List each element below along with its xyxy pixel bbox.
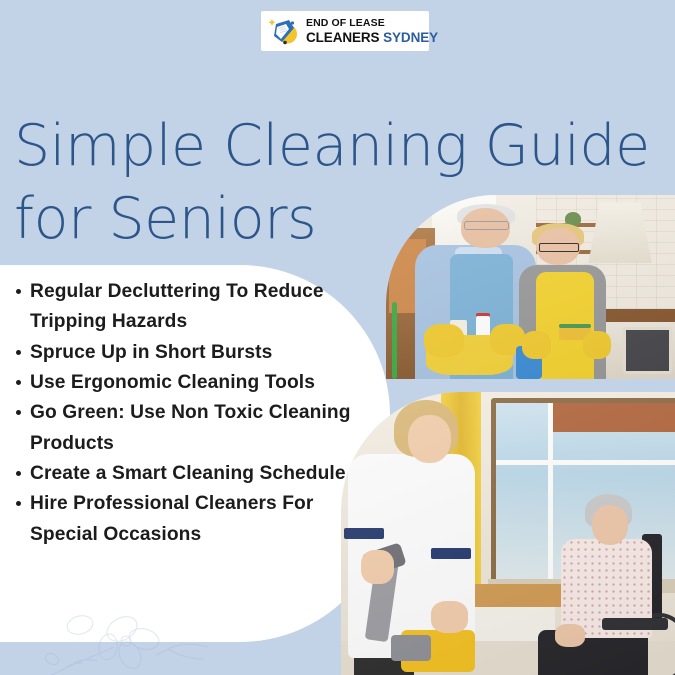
brand-logo[interactable]: END OF LEASE CLEANERS SYDNEY [261,11,429,51]
list-item: Go Green: Use Non Toxic Cleaning Product… [30,398,362,459]
photo-carer-vacuuming-for-senior [341,392,675,675]
brand-logo-line-2: CLEANERS SYDNEY [306,31,438,45]
brand-logo-line-1: END OF LEASE [306,18,438,29]
list-item: Use Ergonomic Cleaning Tools [30,368,362,398]
brand-logo-text: END OF LEASE CLEANERS SYDNEY [306,18,438,44]
brand-logo-sydney: SYDNEY [383,30,438,45]
tips-list: Regular Decluttering To Reduce Tripping … [8,277,362,550]
list-item: Regular Decluttering To Reduce Tripping … [30,277,362,338]
list-item: Spruce Up in Short Bursts [30,338,362,368]
infographic-poster: END OF LEASE CLEANERS SYDNEY Simple Clea… [0,0,675,675]
spray-cleaning-hand-icon [268,15,300,47]
brand-logo-cleaners: CLEANERS [306,30,379,45]
list-item: Hire Professional Cleaners For Special O… [30,489,362,550]
list-item: Create a Smart Cleaning Schedule [30,459,362,489]
photo-senior-couple-cleaning-kitchen [386,195,675,379]
